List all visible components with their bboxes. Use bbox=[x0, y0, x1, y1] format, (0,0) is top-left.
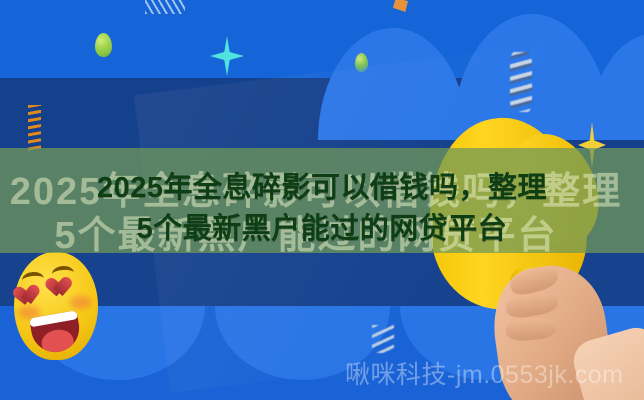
banner-image: 2025年全息碎影可以借钱吗，整理 5个最新黑户能过的网贷平台 2025年全息碎… bbox=[0, 0, 644, 400]
balloon-green-icon bbox=[355, 53, 368, 72]
confetti-strip-blue-icon bbox=[145, 0, 185, 14]
title-line-1: 2025年全息碎影可以借钱吗，整理 bbox=[0, 164, 644, 206]
confetti-spiral-silver-icon bbox=[510, 52, 532, 112]
emoji-heart-eye bbox=[50, 277, 74, 300]
heart-eyes-emoji-icon bbox=[14, 252, 98, 360]
emoji-heart-eye bbox=[18, 285, 44, 309]
balloon-green-icon bbox=[95, 33, 112, 57]
confetti-spiral-orange-icon bbox=[28, 105, 41, 151]
title-line-2: 5个最新黑户能过的网贷平台 bbox=[0, 205, 644, 247]
confetti-strip-silver-icon bbox=[372, 325, 394, 353]
page-title: 2025年全息碎影可以借钱吗，整理 5个最新黑户能过的网贷平台 2025年全息碎… bbox=[0, 148, 644, 253]
site-watermark: 啾咪科技-jm.0553jk.com bbox=[345, 355, 644, 391]
